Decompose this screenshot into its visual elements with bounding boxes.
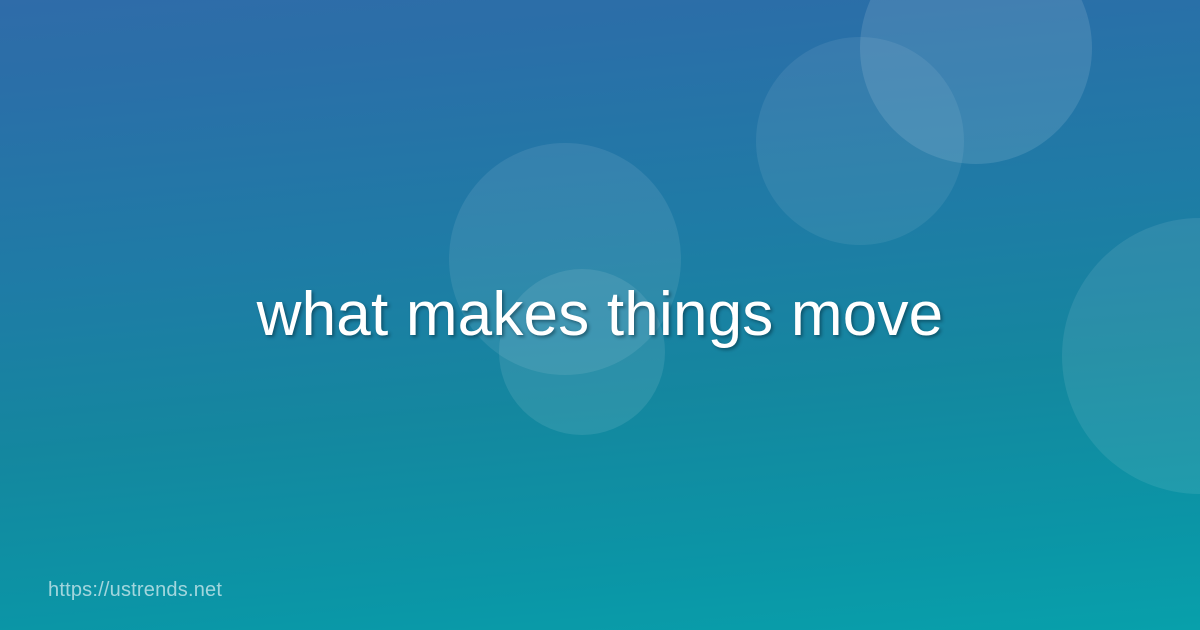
site-url-label: https://ustrends.net — [48, 579, 222, 602]
headline-container: what makes things move — [0, 0, 1200, 630]
social-share-card: what makes things move https://ustrends.… — [0, 0, 1200, 630]
page-title: what makes things move — [257, 278, 944, 351]
